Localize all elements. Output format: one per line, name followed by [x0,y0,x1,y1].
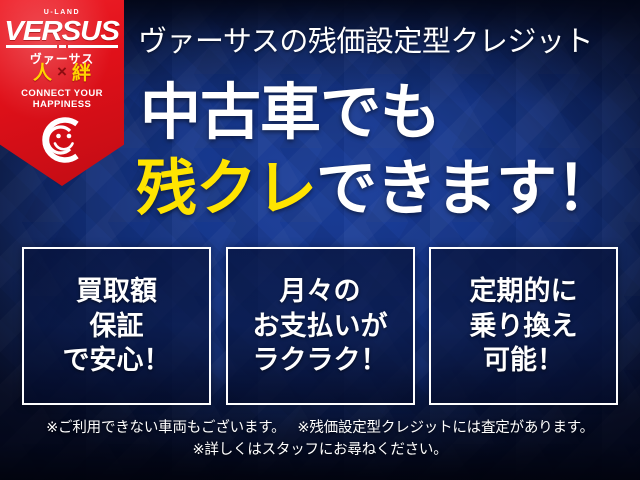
tagline-en-line2: HAPPINESS [33,99,92,110]
brand-name: VERSUS [5,17,120,45]
footnote-1b: ※残価設定型クレジットには査定があります。 [297,420,594,436]
footnote-row-2: ※詳しくはスタッフにお尋ねください。 [0,440,640,462]
footnote-block: ※ご利用できない車両もございます。※残価設定型クレジットには査定があります。 ※… [0,418,640,462]
divider-mid [59,45,66,48]
tagline-en-line1: CONNECT YOUR [21,88,103,99]
feature-box-3: 定期的に 乗り換え 可能！ [429,247,618,405]
headline-highlight: 残クレ [136,154,316,222]
brand-name-wrap: VERSUS [0,17,124,45]
headline-line1: 中古車でも [140,82,632,143]
footnote-1a: ※ご利用できない車両もございます。 [46,420,285,436]
feature-1-line-1: 買取額 [76,274,157,309]
footnote-2: ※詳しくはスタッフにお尋ねください。 [192,442,447,458]
headline-kicker: ヴァーサスの残価設定型クレジット [138,28,632,57]
feature-3-line-1: 定期的に [470,274,578,309]
brand-divider-rules [6,45,118,48]
feature-3-line-2: 乗り換え [470,309,578,344]
multiply-icon: × [57,62,67,81]
divider-right [68,45,119,48]
feature-2-line-3: ラクラク！ [253,343,388,378]
feature-box-1: 買取額 保証 で安心！ [22,247,211,405]
c-smiley-icon [34,112,90,168]
feature-1-line-3: で安心！ [63,343,171,378]
divider-left [6,45,57,48]
brand-tagline-jp: 人×絆 [0,64,124,83]
headline-line2-rest: できます！ [316,154,616,222]
feature-2-line-2: お支払いが [253,309,388,344]
tagline-kizuna: 絆 [72,63,91,84]
footnote-row-1: ※ご利用できない車両もございます。※残価設定型クレジットには査定があります。 [0,418,640,440]
feature-2-line-1: 月々の [280,274,361,309]
feature-box-2: 月々の お支払いが ラクラク！ [226,247,415,405]
brand-tagline-en: CONNECT YOUR HAPPINESS [0,88,124,110]
advertisement-banner: U-LAND VERSUS ヴァーサス 人×絆 CONNECT YOUR HAP… [0,0,640,480]
tagline-hito: 人 [33,63,52,84]
feature-3-line-3: 可能！ [483,343,564,378]
headline-line2: 残クレできます！ [136,158,636,219]
feature-box-group: 買取額 保証 で安心！ 月々の お支払いが ラクラク！ 定期的に 乗り換え 可能… [22,247,618,405]
feature-1-line-2: 保証 [90,309,144,344]
